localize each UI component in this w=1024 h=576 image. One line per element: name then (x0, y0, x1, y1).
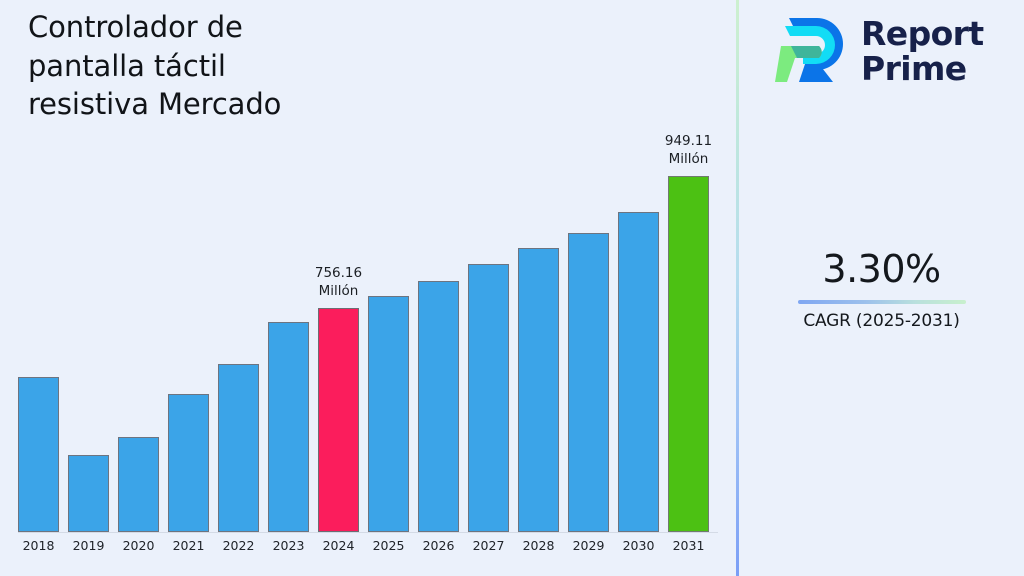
bar-2025 (368, 296, 409, 532)
bar-2031 (668, 176, 709, 532)
report-prime-logo-icon (775, 12, 847, 90)
chart-panel: Controlador de pantalla táctil resistiva… (0, 0, 736, 576)
cagr-divider-rule (798, 300, 966, 304)
bar-2030 (618, 212, 659, 532)
bar-2021 (168, 394, 209, 532)
cagr-block: 3.30% CAGR (2025-2031) (739, 250, 1024, 331)
x-tick-2031: 2031 (659, 538, 719, 553)
bar-value-label-2031: 949.11 Millón (634, 133, 744, 169)
cagr-value: 3.30% (739, 250, 1024, 288)
brand-name: Report Prime (861, 16, 984, 87)
bar-2024 (318, 308, 359, 532)
bar-2018 (18, 377, 59, 532)
infographic-root: Controlador de pantalla táctil resistiva… (0, 0, 1024, 576)
bar-2027 (468, 264, 509, 532)
bar-2020 (118, 437, 159, 532)
bar-2019 (68, 455, 109, 532)
brand-logo: Report Prime (775, 12, 984, 90)
bar-2023 (268, 322, 309, 532)
bar-2028 (518, 248, 559, 532)
sidebar-panel: Report Prime 3.30% CAGR (2025-2031) (739, 0, 1024, 576)
x-axis-line (18, 532, 718, 533)
bar-2026 (418, 281, 459, 532)
cagr-caption: CAGR (2025-2031) (739, 311, 1024, 331)
bar-chart: 2018201920202021202220232024756.16 Milló… (0, 0, 736, 576)
bar-2029 (568, 233, 609, 532)
bar-2022 (218, 364, 259, 532)
